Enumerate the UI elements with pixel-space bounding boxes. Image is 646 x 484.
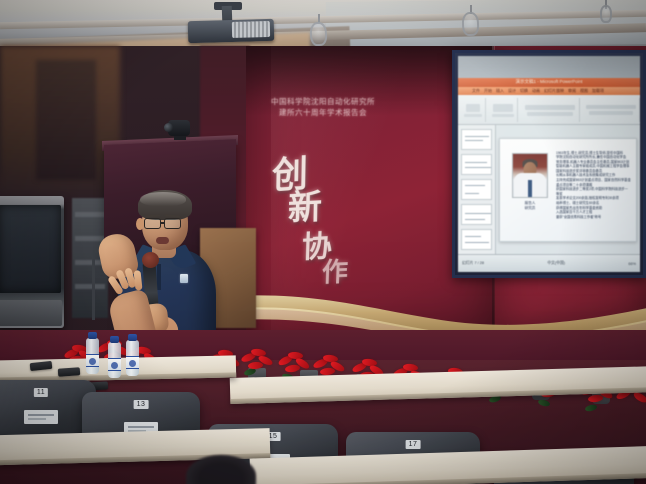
projection-screen-content: 演示文稿1 - Microsoft PowerPoint 文件 开始 插入 设计… [458,56,640,272]
ribbon-group-paragraph[interactable] [582,98,640,122]
powerpoint-title-bar: 演示文稿1 - Microsoft PowerPoint [458,78,640,87]
menu-item-transitions[interactable]: 切换 [520,88,528,94]
spotlight-icon-2 [462,12,480,37]
ceiling-projector-icon [188,19,275,43]
water-bottle [126,340,139,376]
seat-number-badge: 17 [406,440,421,449]
menu-item-addins[interactable]: 加载项 [592,88,604,94]
ribbon-group-font[interactable] [520,98,580,122]
slide-thumbnail-pane[interactable] [458,125,496,254]
microphone-stand [92,250,95,320]
presenter-mouth [156,237,169,244]
presenter-hair-highlight [140,192,186,206]
powerpoint-title-text: 演示文稿1 - Microsoft PowerPoint [515,79,582,85]
conference-hall-photo: 中国科学院沈阳自动化研究所 建所六十周年学术报告会 创 新 协 作 [0,0,646,484]
current-slide[interactable]: 报告人 研究员 1963年生,博士,研究员,博士生导师,现任中国科 学院沈阳自动… [499,138,637,242]
ribbon-chip-fontstyle [527,112,573,116]
ribbon-chip-align [586,105,636,109]
poinsettia-plant [240,346,274,376]
wall-left-dark-panel [36,60,96,180]
menu-item-review[interactable]: 审阅 [568,88,576,94]
water-bottle [86,338,99,374]
ribbon-chip-fontname [525,105,575,110]
ribbon-chip-list [589,111,633,115]
menu-item-view[interactable]: 视图 [580,88,588,94]
bio-line-2: 学院沈阳自动化研究所所长,兼任中国自动化学会 [556,155,631,160]
backdrop-org-line-1: 中国科学院沈阳自动化研究所 [264,96,382,107]
slide-portrait-photo [512,153,548,198]
screen-top-wash [458,56,640,78]
presenter-shirt-placket [157,264,161,290]
bottle-cap [128,334,137,341]
slide-thumbnail-2[interactable] [461,154,492,175]
eyeglasses-bridge [161,222,165,224]
bio-line-14: 曾获"全国优秀科技工作者"称号 [556,215,631,220]
powerpoint-ribbon[interactable] [458,95,640,125]
powerpoint-status-bar: 幻灯片 7 / 28 中文(中国) 66% [458,254,640,272]
bottle-label [86,354,99,367]
status-language: 中文(中国) [547,261,565,266]
eyeglasses-lens-right [164,218,181,229]
portrait-necktie [528,180,532,197]
spotlight-icon-1 [309,22,327,47]
menu-item-design[interactable]: 设计 [508,88,516,94]
backdrop-org-line-2: 建所六十周年学术报告会 [264,107,382,118]
menu-item-animations[interactable]: 动画 [532,88,540,94]
slide-thumbnail-1[interactable] [461,129,492,150]
ribbon-chip-paste [466,104,480,112]
seat-number-badge: 13 [134,400,149,409]
projection-screen: 演示文稿1 - Microsoft PowerPoint 文件 开始 插入 设计… [452,50,646,278]
water-bottle [108,342,121,378]
calligraphy-char-4: 作 [321,252,348,290]
caption-line-2: 研究员 [512,206,548,211]
presenter-open-hand [96,231,140,282]
slide-thumbnail-4[interactable] [461,204,492,225]
video-camera-icon [168,120,190,136]
ribbon-chip-newslide [493,104,513,112]
status-zoom-level[interactable]: 66% [628,262,636,266]
tv-screen [0,205,61,293]
ribbon-chip-layout [492,114,514,117]
slide-thumbnail-5[interactable] [461,229,492,250]
slide-editing-area[interactable]: 报告人 研究员 1963年生,博士,研究员,博士生导师,现任中国科 学院沈阳自动… [496,125,640,254]
bottle-label [126,356,139,369]
slide-bio-text: 1963年生,博士,研究员,博士生导师,现任中国科 学院沈阳自动化研究所所长,兼… [556,151,631,220]
presenter-shirt-logo [180,274,188,283]
presenter-ear [136,218,144,230]
ribbon-group-slides[interactable] [488,98,518,122]
rear-projection-tv [0,196,64,328]
status-slide-counter: 幻灯片 7 / 28 [462,261,484,266]
menu-item-home[interactable]: 开始 [484,88,492,94]
menu-item-slideshow[interactable]: 幻灯片放映 [544,88,564,94]
smartphone-on-desk [58,367,81,377]
menu-item-insert[interactable]: 插入 [496,88,504,94]
menu-item-file[interactable]: 文件 [472,88,480,94]
slide-thumbnail-3[interactable] [461,179,492,200]
bio-line-7: 主持完成国家863计划重点项目、国家自然科学基金 [556,178,631,183]
eyeglasses-lens-left [144,218,161,229]
bottle-label [108,358,121,371]
bottle-cap [110,336,119,343]
ribbon-chip-clip [464,114,482,117]
seat-number-badge: 11 [34,388,48,397]
slide-portrait-caption: 报告人 研究员 [512,201,548,211]
seat-info-plate [24,410,58,424]
backdrop-org-text: 中国科学院沈阳自动化研究所 建所六十周年学术报告会 [264,96,382,118]
bottle-cap [88,332,97,339]
ribbon-group-clipboard[interactable] [460,98,486,122]
powerpoint-menu-bar[interactable]: 文件 开始 插入 设计 切换 动画 幻灯片放映 审阅 视图 加载项 [458,87,640,95]
spotlight-icon-3 [600,5,612,23]
tv-base-speaker [0,300,62,326]
